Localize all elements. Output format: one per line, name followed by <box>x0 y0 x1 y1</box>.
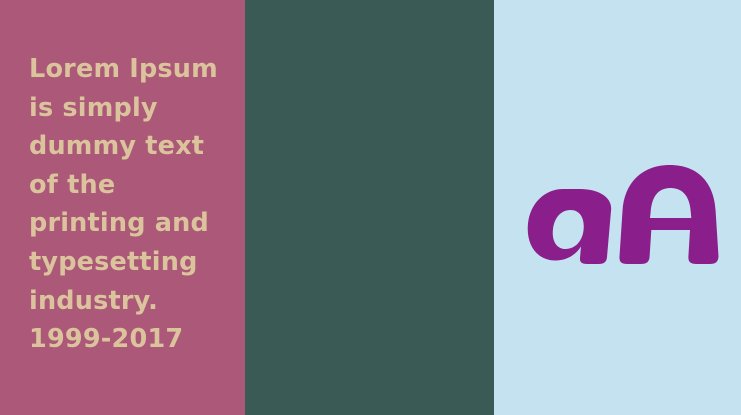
glyph-pair-container <box>494 0 741 415</box>
left-sample-text: Lorem Ipsum is simply dummy text of the … <box>29 50 234 359</box>
teal-specimen-panel: It is a long established fact that a rea… <box>245 0 494 415</box>
glyph-specimen-panel <box>494 0 741 415</box>
font-specimen-poster: Lorem Ipsum is simply dummy text of the … <box>0 0 741 415</box>
pink-specimen-panel: Lorem Ipsum is simply dummy text of the … <box>0 0 245 415</box>
glyph-pair-aA-icon <box>522 155 722 285</box>
